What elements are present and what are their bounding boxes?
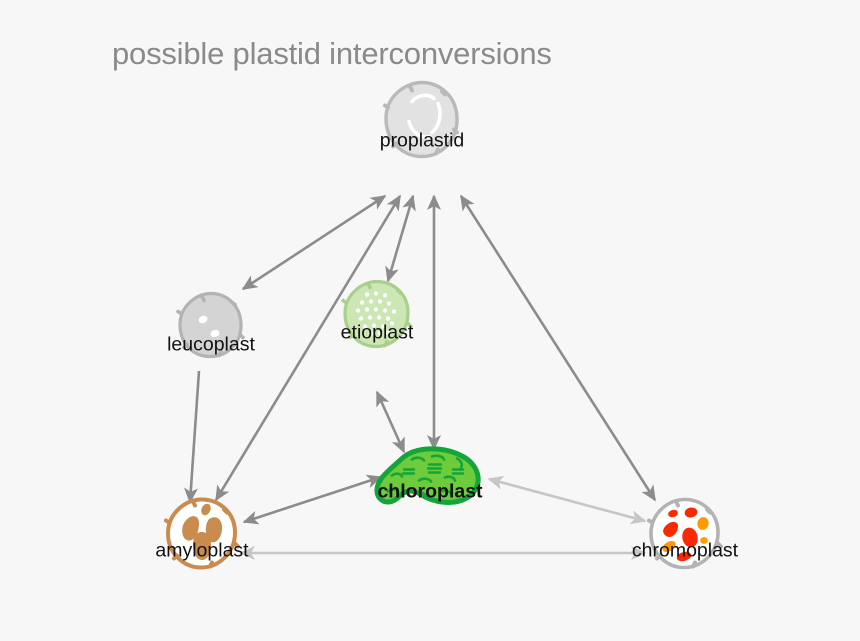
node-label-chloroplast: chloroplast bbox=[377, 481, 482, 504]
edge-chloroplast-chromoplast bbox=[489, 479, 645, 521]
node-label-proplastid: proplastid bbox=[380, 130, 465, 153]
node-proplastid[interactable]: proplastid bbox=[380, 78, 464, 167]
node-etioplast[interactable]: etioplast bbox=[340, 278, 414, 357]
node-label-etioplast: etioplast bbox=[341, 322, 414, 345]
node-chromoplast[interactable]: chromoplast bbox=[646, 496, 724, 579]
amyloplast-organelle-icon bbox=[163, 496, 241, 579]
proplastid-organelle-icon bbox=[380, 78, 464, 167]
edge-amyloplast-chloroplast bbox=[244, 477, 381, 522]
edge-proplastid-leucoplast bbox=[243, 196, 385, 289]
plastid-interconversion-diagram: possible plastid interconversions bbox=[0, 0, 860, 641]
edge-leucoplast-amyloplast bbox=[190, 371, 199, 502]
chromoplast-organelle-icon bbox=[646, 496, 724, 579]
node-label-chromoplast: chromoplast bbox=[632, 540, 738, 563]
node-chloroplast[interactable]: chloroplast bbox=[371, 443, 489, 518]
edge-proplastid-chromoplast bbox=[461, 196, 655, 500]
node-amyloplast[interactable]: amyloplast bbox=[163, 496, 241, 579]
etioplast-organelle-icon bbox=[340, 278, 414, 357]
node-label-amyloplast: amyloplast bbox=[155, 540, 248, 563]
node-label-leucoplast: leucoplast bbox=[167, 334, 255, 357]
node-leucoplast[interactable]: leucoplast bbox=[175, 290, 247, 367]
